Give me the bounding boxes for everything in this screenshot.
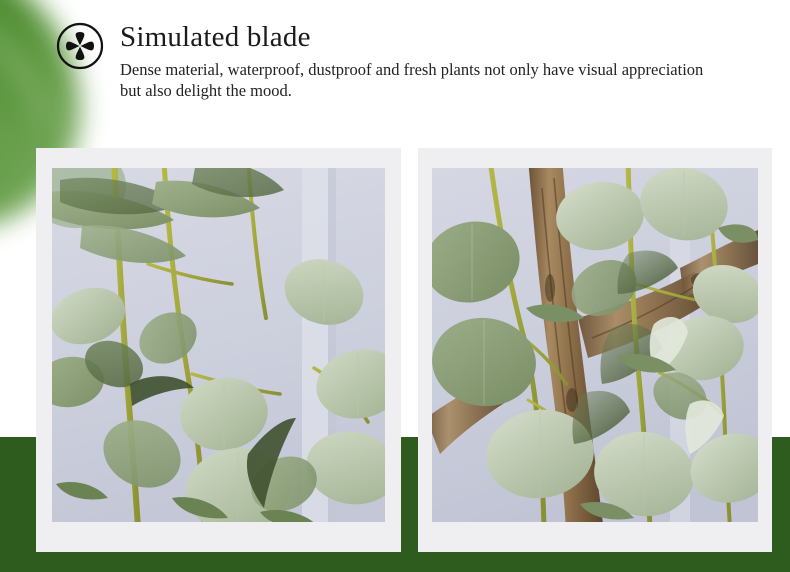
photo-gallery	[0, 148, 790, 558]
page-title: Simulated blade	[120, 18, 760, 56]
photo-frame-left	[36, 148, 401, 552]
clover-flower-icon	[56, 22, 104, 70]
photo-eucalyptus-trunk-right	[432, 168, 758, 522]
product-detail-banner: Simulated blade Dense material, waterpro…	[0, 0, 790, 572]
header-text-block: Simulated blade Dense material, waterpro…	[120, 18, 760, 101]
page-subtitle: Dense material, waterproof, dustproof an…	[120, 59, 720, 101]
photo-frame-right	[418, 148, 772, 552]
header: Simulated blade Dense material, waterpro…	[0, 0, 790, 140]
photo-eucalyptus-foliage-left	[52, 168, 385, 522]
